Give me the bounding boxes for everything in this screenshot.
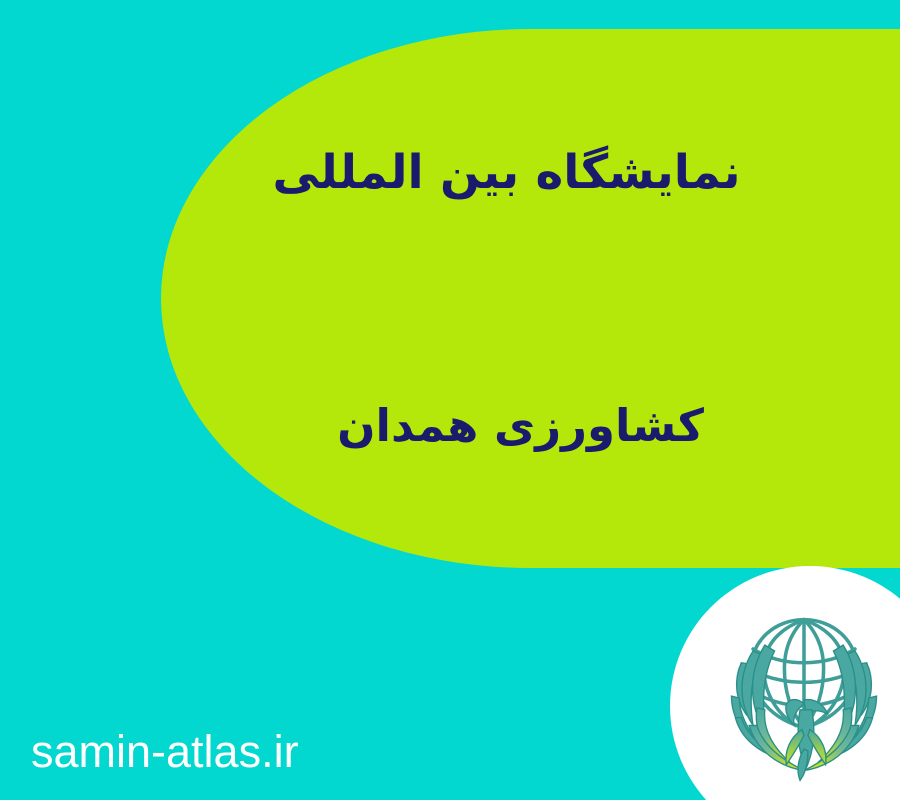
site-watermark: samin-atlas.ir [31, 726, 299, 778]
headline-line-2: کشاورزی همدان [151, 401, 900, 451]
headline-line-1: نمایشگاه بین المللی [137, 147, 900, 199]
title-block: نمایشگاه بین المللی کشاورزی همدان [161, 29, 900, 568]
exhibition-banner: نمایشگاه بین المللی کشاورزی همدان [0, 0, 900, 800]
globe-with-leaves-and-bird-logo [706, 602, 900, 798]
logo-plate [670, 566, 900, 800]
